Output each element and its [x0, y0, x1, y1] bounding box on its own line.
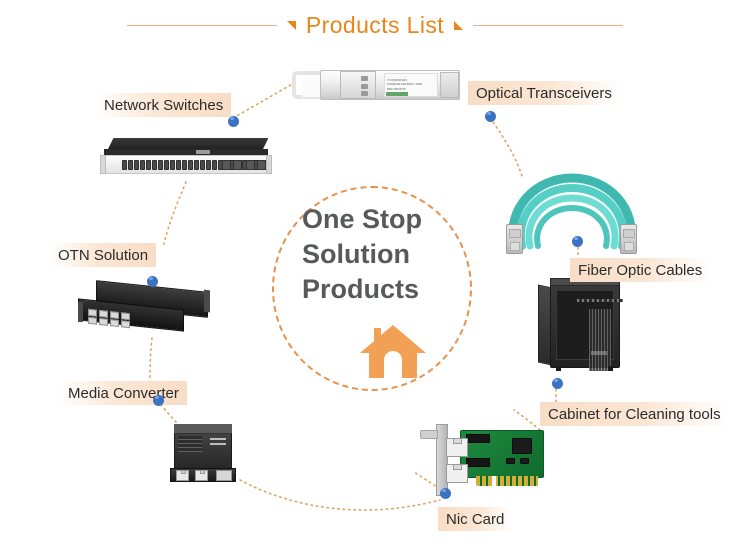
media-converter-vent-fins	[178, 436, 202, 452]
center-line-3: Products	[302, 272, 442, 307]
nic-pcie-notch	[492, 476, 496, 486]
node-dot-fiber-optic-cables	[572, 236, 583, 247]
nic-pcie-edge-connector	[476, 476, 538, 486]
nic-magnetics-1	[466, 434, 490, 443]
cabinet-logo	[591, 351, 607, 355]
center-circle: One Stop Solution Products	[272, 186, 472, 391]
label-media-converter[interactable]: Media Converter	[60, 381, 187, 405]
center-line-2: Solution	[302, 237, 442, 272]
aoc-connector-left	[506, 224, 523, 254]
cabinet-mesh-panel	[589, 309, 611, 371]
nic-magnetics-2	[466, 458, 490, 467]
switch-rj45-port-group	[122, 160, 265, 170]
node-dot-optical-transceivers	[485, 111, 496, 122]
label-nic-card[interactable]: Nic Card	[438, 507, 512, 531]
network-switch-image	[100, 138, 272, 182]
triangle-left-icon	[287, 21, 296, 30]
cabinet-foot-right	[608, 366, 613, 371]
center-line-1: One Stop	[302, 202, 442, 237]
transceiver-label-line-1: XT-QSFP28-SR4	[387, 79, 435, 83]
transceiver-label-line-3: MMF MPO/MTP	[387, 88, 435, 92]
switch-sfp-group-2	[246, 160, 266, 170]
nic-bracket-hook	[420, 430, 438, 439]
page-title: Products List	[306, 12, 444, 39]
switch-rack-ear-left	[100, 155, 106, 174]
node-dot-media-converter	[153, 395, 164, 406]
otn-rack-ear-left	[78, 302, 83, 322]
label-network-switches[interactable]: Network Switches	[96, 93, 231, 117]
title-rule-right	[473, 25, 623, 26]
title-rule-left	[127, 25, 277, 26]
house-icon	[358, 322, 428, 380]
media-converter-image	[168, 424, 238, 486]
nic-rj45-port-1	[446, 438, 468, 457]
media-converter-rj45-port-1	[176, 470, 189, 481]
transceiver-green-strip	[386, 92, 408, 96]
triangle-right-icon	[454, 21, 463, 30]
page-title-bar: Products List	[0, 8, 750, 42]
products-list-infographic: Products List One Stop Solution Products	[0, 0, 750, 559]
label-fiber-optic-cables[interactable]: Fiber Optic Cables	[570, 258, 710, 282]
node-dot-network-switches	[228, 116, 239, 127]
optical-transceiver-image: XT-QSFP28-SR4 100GBASE-SR4 850nm 100M MM…	[292, 62, 460, 108]
nic-rj45-port-2	[446, 464, 468, 483]
center-headline: One Stop Solution Products	[302, 202, 442, 307]
nic-controller-chip	[512, 438, 532, 454]
media-converter-top	[174, 424, 232, 434]
media-converter-rj45-port-2	[195, 470, 208, 481]
fiber-optic-cable-image	[492, 168, 652, 260]
transceiver-label-line-2: 100GBASE-SR4 850nm 100M	[387, 83, 435, 87]
node-dot-cabinet	[552, 378, 563, 389]
otn-rack-ear-right	[204, 290, 210, 313]
media-converter-led-row-1	[210, 438, 226, 440]
transceiver-cage	[340, 71, 376, 99]
label-optical-transceivers[interactable]: Optical Transceivers	[468, 81, 620, 105]
nic-card-image	[408, 424, 546, 498]
switch-sfp-group-1	[222, 160, 242, 170]
nic-component-1	[506, 458, 515, 464]
node-dot-otn-solution	[147, 276, 158, 287]
switch-badge	[196, 150, 210, 154]
label-otn-solution[interactable]: OTN Solution	[50, 243, 156, 267]
media-converter-sfp-slot	[216, 470, 232, 481]
nic-component-2	[520, 458, 529, 464]
label-cabinet-cleaning-tools[interactable]: Cabinet for Cleaning tools	[540, 402, 729, 426]
media-converter-led-row-2	[210, 443, 226, 445]
otn-solution-image	[78, 286, 210, 332]
transceiver-tail	[440, 72, 459, 98]
cabinet-vent-strip	[577, 299, 623, 302]
node-dot-nic-card	[440, 488, 451, 499]
aoc-connector-right	[620, 224, 637, 254]
cabinet-foot-left	[556, 366, 561, 371]
cabinet-door	[556, 290, 614, 360]
switch-rack-ear-right	[266, 155, 272, 174]
cabinet-image	[538, 276, 622, 372]
